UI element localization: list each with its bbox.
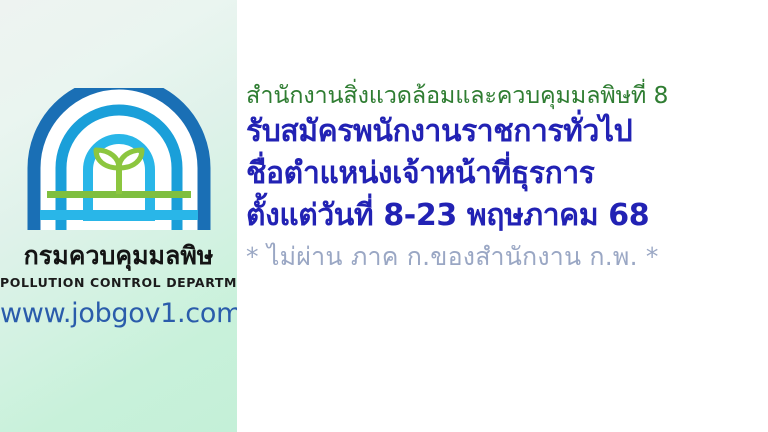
logo-website-url[interactable]: www.jobgov1.com (0, 298, 237, 329)
announcement-headline-position-type: รับสมัครพนักงานราชการทั่วไป (246, 111, 768, 153)
job-announcement-banner: กรมควบคุมมลพิษ POLLUTION CONTROL DEPARTM… (0, 0, 768, 432)
logo-panel: กรมควบคุมมลพิษ POLLUTION CONTROL DEPARTM… (0, 0, 237, 432)
announcement-headline-date-range: ตั้งแต่วันที่ 8-23 พฤษภาคม 68 (246, 195, 768, 237)
logo-thai-name: กรมควบคุมมลพิษ (0, 243, 237, 269)
agency-logo (20, 88, 218, 230)
announcement-headline-job-title: ชื่อตำแหน่งเจ้าหน้าที่ธุรการ (246, 153, 768, 195)
pollution-control-department-emblem-icon (20, 88, 218, 230)
announcement-organization: สำนักงานสิ่งแวดล้อมและควบคุมมลพิษที่ 8 (246, 80, 768, 111)
announcement-panel: สำนักงานสิ่งแวดล้อมและควบคุมมลพิษที่ 8 ร… (237, 0, 768, 432)
announcement-text-block: สำนักงานสิ่งแวดล้อมและควบคุมมลพิษที่ 8 ร… (246, 80, 768, 276)
announcement-note: * ไม่ผ่าน ภาค ก.ของสำนักงาน ก.พ. * (246, 239, 768, 275)
logo-english-name: POLLUTION CONTROL DEPARTMENT (0, 275, 237, 290)
